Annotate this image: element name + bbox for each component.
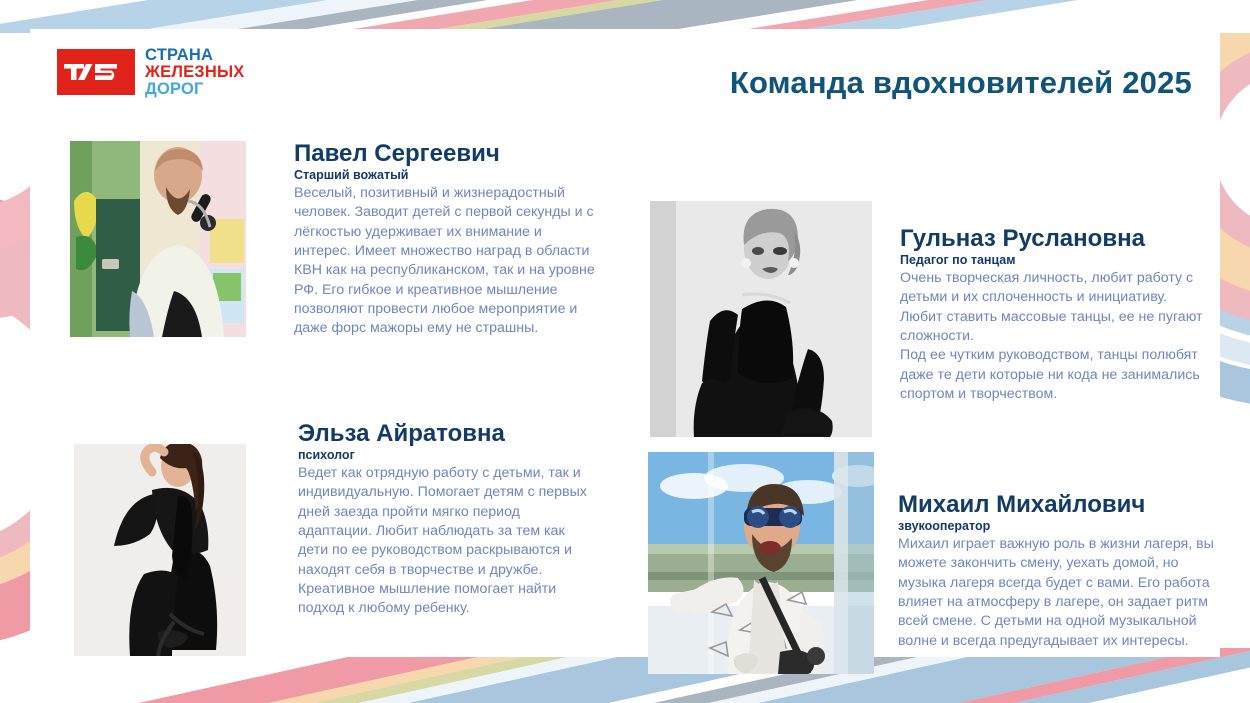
- rzd-logo-wordmark: СТРАНА ЖЕЛЕЗНЫХ ДОРОГ: [145, 47, 245, 97]
- person-role: Педагог по танцам: [900, 254, 1212, 268]
- person-card-gulnaz: Гульназ Руслановна Педагог по танцам Оче…: [650, 201, 1212, 437]
- person-bio-elza: Эльза Айратовна психолог Ведет как отряд…: [246, 421, 596, 656]
- person-description: Очень творческая личность, любит работу …: [900, 269, 1212, 404]
- person-name: Эльза Айратовна: [298, 421, 596, 446]
- rzd-logo: СТРАНА ЖЕЛЕЗНЫХ ДОРОГ: [57, 47, 245, 97]
- person-photo-pavel: [70, 141, 246, 337]
- person-bio-gulnaz: Гульназ Руслановна Педагог по танцам Оче…: [872, 201, 1212, 437]
- person-name: Михаил Михайлович: [898, 492, 1214, 517]
- slide-content-card: СТРАНА ЖЕЛЕЗНЫХ ДОРОГ Команда вдохновите…: [30, 29, 1220, 657]
- person-description: Михаил играет важную роль в жизни лагеря…: [898, 535, 1214, 651]
- person-name: Павел Сергеевич: [294, 141, 596, 166]
- person-role: звукооператор: [898, 520, 1214, 534]
- presentation-slide: СТРАНА ЖЕЛЕЗНЫХ ДОРОГ Команда вдохновите…: [0, 0, 1250, 703]
- person-photo-gulnaz: [650, 201, 872, 437]
- person-bio-mikhail: Михаил Михайлович звукооператор Михаил и…: [874, 452, 1214, 674]
- person-photo-mikhail: [648, 452, 874, 674]
- person-description: Ведет как отрядную работу с детьми, так …: [298, 464, 596, 619]
- person-card-mikhail: Михаил Михайлович звукооператор Михаил и…: [648, 452, 1214, 674]
- person-name: Гульназ Руслановна: [900, 226, 1212, 251]
- logo-line-3: ДОРОГ: [145, 81, 245, 98]
- person-role: психолог: [298, 449, 596, 463]
- slide-title: Команда вдохновителей 2025: [730, 65, 1192, 101]
- person-photo-elza: [74, 444, 246, 656]
- person-card-pavel: Павел Сергеевич Старший вожатый Веселый,…: [70, 141, 596, 338]
- rzd-logo-mark-icon: [57, 49, 135, 95]
- logo-line-2: ЖЕЛЕЗНЫХ: [145, 64, 245, 81]
- logo-line-1: СТРАНА: [145, 47, 245, 64]
- person-description: Веселый, позитивный и жизнерадостный чел…: [294, 184, 596, 339]
- person-role: Старший вожатый: [294, 169, 596, 183]
- person-bio-pavel: Павел Сергеевич Старший вожатый Веселый,…: [246, 141, 596, 338]
- person-card-elza: Эльза Айратовна психолог Ведет как отряд…: [74, 421, 596, 656]
